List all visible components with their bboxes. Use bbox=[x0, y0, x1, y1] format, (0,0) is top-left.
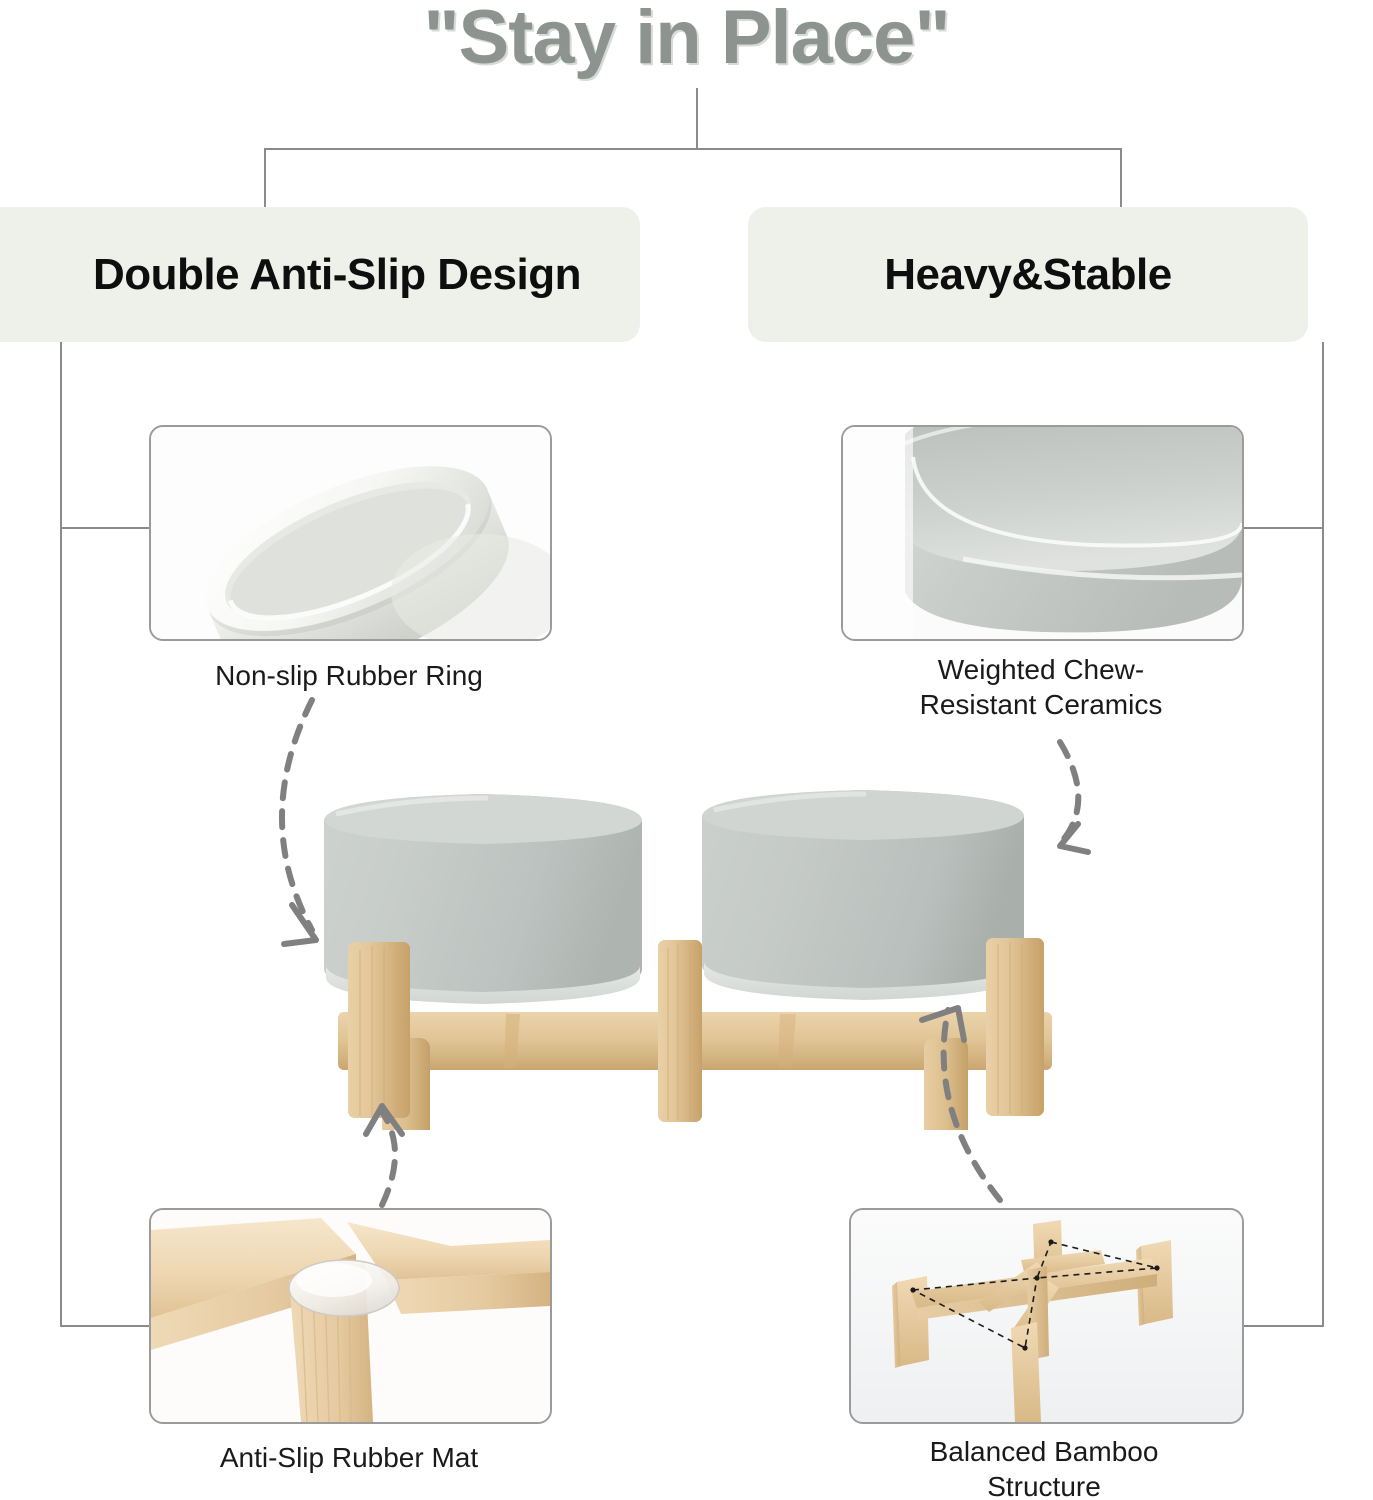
connector-top-bar bbox=[264, 148, 1122, 150]
connector-down-right bbox=[1120, 148, 1122, 210]
balanced-bamboo-structure-photo bbox=[851, 1210, 1242, 1422]
non-slip-rubber-ring-photo bbox=[151, 427, 550, 639]
anti-slip-rubber-mat-photo bbox=[151, 1210, 550, 1422]
feature-image-weighted-chew-resistant-ceramics bbox=[841, 425, 1244, 641]
connector-right-to-top-inset bbox=[1238, 527, 1324, 529]
connector-down-left bbox=[264, 148, 266, 210]
category-label-left: Double Anti-Slip Design bbox=[93, 250, 581, 300]
category-pill-heavy-stable: Heavy&Stable bbox=[748, 207, 1308, 342]
weighted-ceramics-photo bbox=[843, 427, 1242, 639]
double-bowl-bamboo-stand-illustration bbox=[310, 780, 1070, 1130]
connector-right-rail bbox=[1322, 342, 1324, 1327]
infographic-page: "Stay in Place" Double Anti-Slip Design … bbox=[0, 0, 1373, 1500]
feature-caption-non-slip-rubber-ring: Non-slip Rubber Ring bbox=[109, 658, 589, 693]
connector-left-to-bottom-inset bbox=[60, 1325, 152, 1327]
feature-image-non-slip-rubber-ring bbox=[149, 425, 552, 641]
category-label-right: Heavy&Stable bbox=[884, 250, 1171, 300]
connector-title-stem bbox=[696, 88, 698, 150]
feature-caption-weighted-chew-resistant-ceramics: Weighted Chew- Resistant Ceramics bbox=[801, 652, 1281, 722]
feature-caption-anti-slip-rubber-mat: Anti-Slip Rubber Mat bbox=[109, 1440, 589, 1475]
feature-image-balanced-bamboo-structure bbox=[849, 1208, 1244, 1424]
feature-caption-balanced-bamboo-structure: Balanced Bamboo Structure bbox=[809, 1434, 1279, 1500]
connector-left-rail bbox=[60, 342, 62, 1327]
connector-right-to-bottom-inset bbox=[1238, 1325, 1324, 1327]
feature-image-anti-slip-rubber-mat bbox=[149, 1208, 552, 1424]
category-pill-double-anti-slip-design: Double Anti-Slip Design bbox=[0, 207, 640, 342]
page-title: "Stay in Place" bbox=[0, 0, 1373, 81]
product-photo bbox=[310, 780, 1070, 1130]
arrow-to-rubber-ring bbox=[282, 700, 312, 930]
connector-left-to-top-inset bbox=[60, 527, 152, 529]
